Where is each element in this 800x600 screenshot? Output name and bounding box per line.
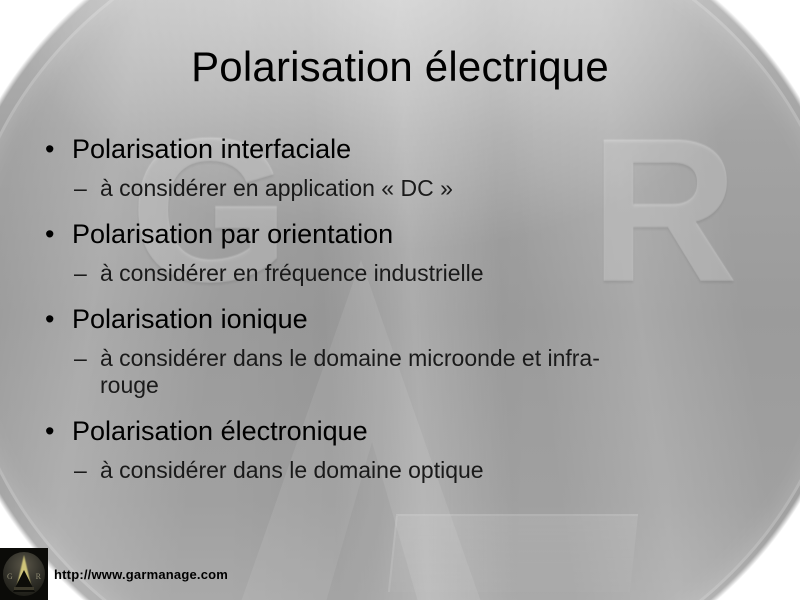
bullet-level1-label: Polarisation ionique bbox=[72, 304, 308, 334]
bullet-level1: • Polarisation électronique bbox=[38, 416, 776, 446]
bullet-level2-label: à considérer dans le domaine microonde e… bbox=[100, 345, 600, 371]
slide-canvas: G R Polarisation électrique • Polarisati… bbox=[0, 0, 800, 600]
slide-title: Polarisation électrique bbox=[0, 45, 800, 89]
bullet-level2-label: à considérer en application « DC » bbox=[100, 175, 453, 201]
footer: G R http://www.garmanage.com bbox=[0, 548, 228, 600]
sub-bullet-list: – à considérer dans le domaine optique bbox=[38, 457, 776, 485]
bullet-level2: – à considérer en fréquence industrielle bbox=[38, 260, 776, 288]
bullet-marker-icon: • bbox=[45, 219, 54, 249]
logo-letter-r: R bbox=[36, 572, 41, 581]
bullet-level2-label: à considérer en fréquence industrielle bbox=[100, 260, 484, 286]
bullet-level2-label: à considérer dans le domaine optique bbox=[100, 457, 484, 483]
sub-bullet-list: – à considérer dans le domaine microonde… bbox=[38, 345, 776, 400]
sub-bullet-list: – à considérer en application « DC » bbox=[38, 175, 776, 203]
bullet-level2: – à considérer en application « DC » bbox=[38, 175, 776, 203]
bullet-level1: • Polarisation ionique bbox=[38, 304, 776, 334]
sub-bullet-list: – à considérer en fréquence industrielle bbox=[38, 260, 776, 288]
bullet-marker-icon: • bbox=[45, 304, 54, 334]
bullet-level2-label-continuation: rouge bbox=[100, 372, 776, 400]
list-item: • Polarisation interfaciale – à considér… bbox=[38, 134, 776, 203]
dash-marker-icon: – bbox=[74, 175, 87, 203]
list-item: • Polarisation ionique – à considérer da… bbox=[38, 304, 776, 400]
dash-marker-icon: – bbox=[74, 345, 87, 373]
bullet-level1-label: Polarisation par orientation bbox=[72, 219, 393, 249]
logo-box: G R bbox=[0, 548, 48, 600]
logo-letter-g: G bbox=[7, 572, 13, 581]
bullet-level1-label: Polarisation électronique bbox=[72, 416, 368, 446]
logo-base-bar bbox=[14, 587, 34, 590]
list-item: • Polarisation électronique – à considér… bbox=[38, 416, 776, 485]
garmanage-logo-icon: G R bbox=[3, 552, 45, 596]
bullet-marker-icon: • bbox=[45, 134, 54, 164]
bullet-level1: • Polarisation par orientation bbox=[38, 219, 776, 249]
dash-marker-icon: – bbox=[74, 260, 87, 288]
bullet-level2: – à considérer dans le domaine microonde… bbox=[38, 345, 776, 400]
list-item: • Polarisation par orientation – à consi… bbox=[38, 219, 776, 288]
bullet-list: • Polarisation interfaciale – à considér… bbox=[38, 134, 776, 499]
bullet-marker-icon: • bbox=[45, 416, 54, 446]
bullet-level1-label: Polarisation interfaciale bbox=[72, 134, 351, 164]
footer-url-link[interactable]: http://www.garmanage.com bbox=[48, 567, 228, 582]
bullet-level1: • Polarisation interfaciale bbox=[38, 134, 776, 164]
dash-marker-icon: – bbox=[74, 457, 87, 485]
bullet-level2: – à considérer dans le domaine optique bbox=[38, 457, 776, 485]
slide-content: Polarisation électrique • Polarisation i… bbox=[0, 0, 800, 600]
